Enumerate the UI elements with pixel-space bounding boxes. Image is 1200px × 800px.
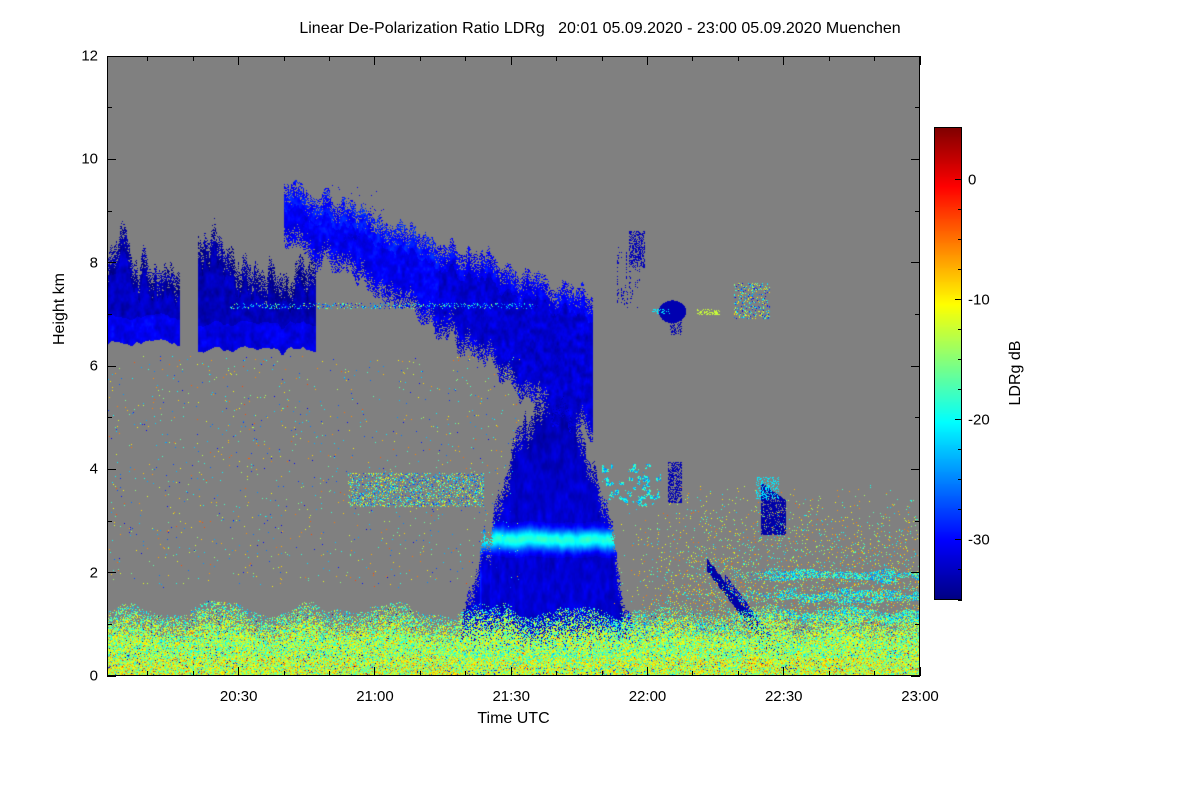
colorbar-tick [958, 600, 962, 601]
x-tick [420, 671, 421, 676]
colorbar-tick [958, 389, 962, 390]
y-tick [107, 211, 112, 212]
y-tick [915, 314, 920, 315]
colorbar-tick-label: 0 [968, 171, 976, 188]
y-tick-label: 12 [60, 48, 98, 65]
x-tick [511, 56, 512, 65]
y-tick-label: 2 [60, 564, 98, 581]
x-tick [193, 56, 194, 61]
colorbar-tick [958, 509, 962, 510]
y-tick [911, 56, 920, 57]
x-tick [692, 671, 693, 676]
y-axis-title: Height km [51, 209, 69, 409]
y-tick [107, 521, 112, 522]
x-tick [602, 671, 603, 676]
y-tick [915, 521, 920, 522]
y-tick [915, 417, 920, 418]
colorbar-tick-label: -20 [968, 411, 990, 428]
y-tick [107, 366, 116, 367]
x-tick [738, 56, 739, 61]
x-tick-label: 23:00 [901, 688, 939, 705]
x-tick [284, 56, 285, 61]
y-tick-label: 10 [60, 151, 98, 168]
y-tick [107, 314, 112, 315]
x-tick-label: 21:00 [356, 688, 394, 705]
colorbar-tick [958, 479, 962, 480]
colorbar-tick [955, 179, 962, 180]
x-tick [829, 671, 830, 676]
x-tick [420, 56, 421, 61]
x-tick [692, 56, 693, 61]
colorbar-tick [958, 359, 962, 360]
y-tick [107, 56, 116, 57]
y-tick [911, 676, 920, 677]
colorbar-tick [958, 569, 962, 570]
x-tick [465, 671, 466, 676]
x-tick [329, 671, 330, 676]
y-tick [107, 624, 112, 625]
x-tick [874, 56, 875, 61]
x-tick [647, 56, 648, 65]
x-tick [556, 56, 557, 61]
colorbar-tick [958, 209, 962, 210]
y-tick [911, 572, 920, 573]
colorbar-tick-label: -10 [968, 291, 990, 308]
x-tick-label: 22:00 [629, 688, 667, 705]
colorbar-tick [958, 269, 962, 270]
plot-canvas-area[interactable] [107, 56, 920, 676]
y-tick-label: 0 [60, 668, 98, 685]
ldr-heatmap-canvas [107, 56, 920, 676]
x-tick [647, 667, 648, 676]
colorbar-tick [958, 329, 962, 330]
colorbar-gradient-canvas [934, 127, 962, 600]
x-tick [284, 671, 285, 676]
colorbar-tick [958, 239, 962, 240]
y-tick [911, 159, 920, 160]
x-tick [783, 56, 784, 65]
x-tick [374, 667, 375, 676]
x-tick [556, 671, 557, 676]
y-tick [911, 469, 920, 470]
y-tick [107, 159, 116, 160]
x-tick [783, 667, 784, 676]
colorbar-title: LDRg dB [1007, 273, 1025, 473]
y-tick [107, 469, 116, 470]
x-tick [374, 56, 375, 65]
radar-plot-figure: Linear De-Polarization Ratio LDRg 20:01 … [0, 0, 1200, 800]
x-tick [465, 56, 466, 61]
x-tick [147, 56, 148, 61]
x-tick-label: 21:30 [492, 688, 530, 705]
page-title: Linear De-Polarization Ratio LDRg 20:01 … [0, 20, 1200, 38]
y-tick [915, 211, 920, 212]
x-tick-label: 22:30 [765, 688, 803, 705]
x-tick [738, 671, 739, 676]
y-tick-label: 4 [60, 461, 98, 478]
x-tick [874, 671, 875, 676]
y-tick [911, 366, 920, 367]
x-tick [920, 56, 921, 65]
x-tick [329, 56, 330, 61]
colorbar-tick [955, 299, 962, 300]
x-tick-label: 20:30 [220, 688, 258, 705]
colorbar-tick [955, 419, 962, 420]
y-tick [107, 262, 116, 263]
y-tick [107, 417, 112, 418]
x-axis-title: Time UTC [107, 710, 920, 728]
x-tick [147, 671, 148, 676]
x-tick [193, 671, 194, 676]
colorbar-tick [958, 449, 962, 450]
colorbar-tick [955, 539, 962, 540]
colorbar-tick-label: -30 [968, 531, 990, 548]
x-tick [829, 56, 830, 61]
y-tick [107, 107, 112, 108]
x-tick [238, 56, 239, 65]
y-tick [107, 572, 116, 573]
y-tick [915, 107, 920, 108]
y-tick [911, 262, 920, 263]
x-tick [602, 56, 603, 61]
y-tick [107, 676, 116, 677]
y-tick [915, 624, 920, 625]
colorbar-area[interactable] [934, 127, 962, 600]
x-tick [511, 667, 512, 676]
x-tick [238, 667, 239, 676]
x-tick [920, 667, 921, 676]
